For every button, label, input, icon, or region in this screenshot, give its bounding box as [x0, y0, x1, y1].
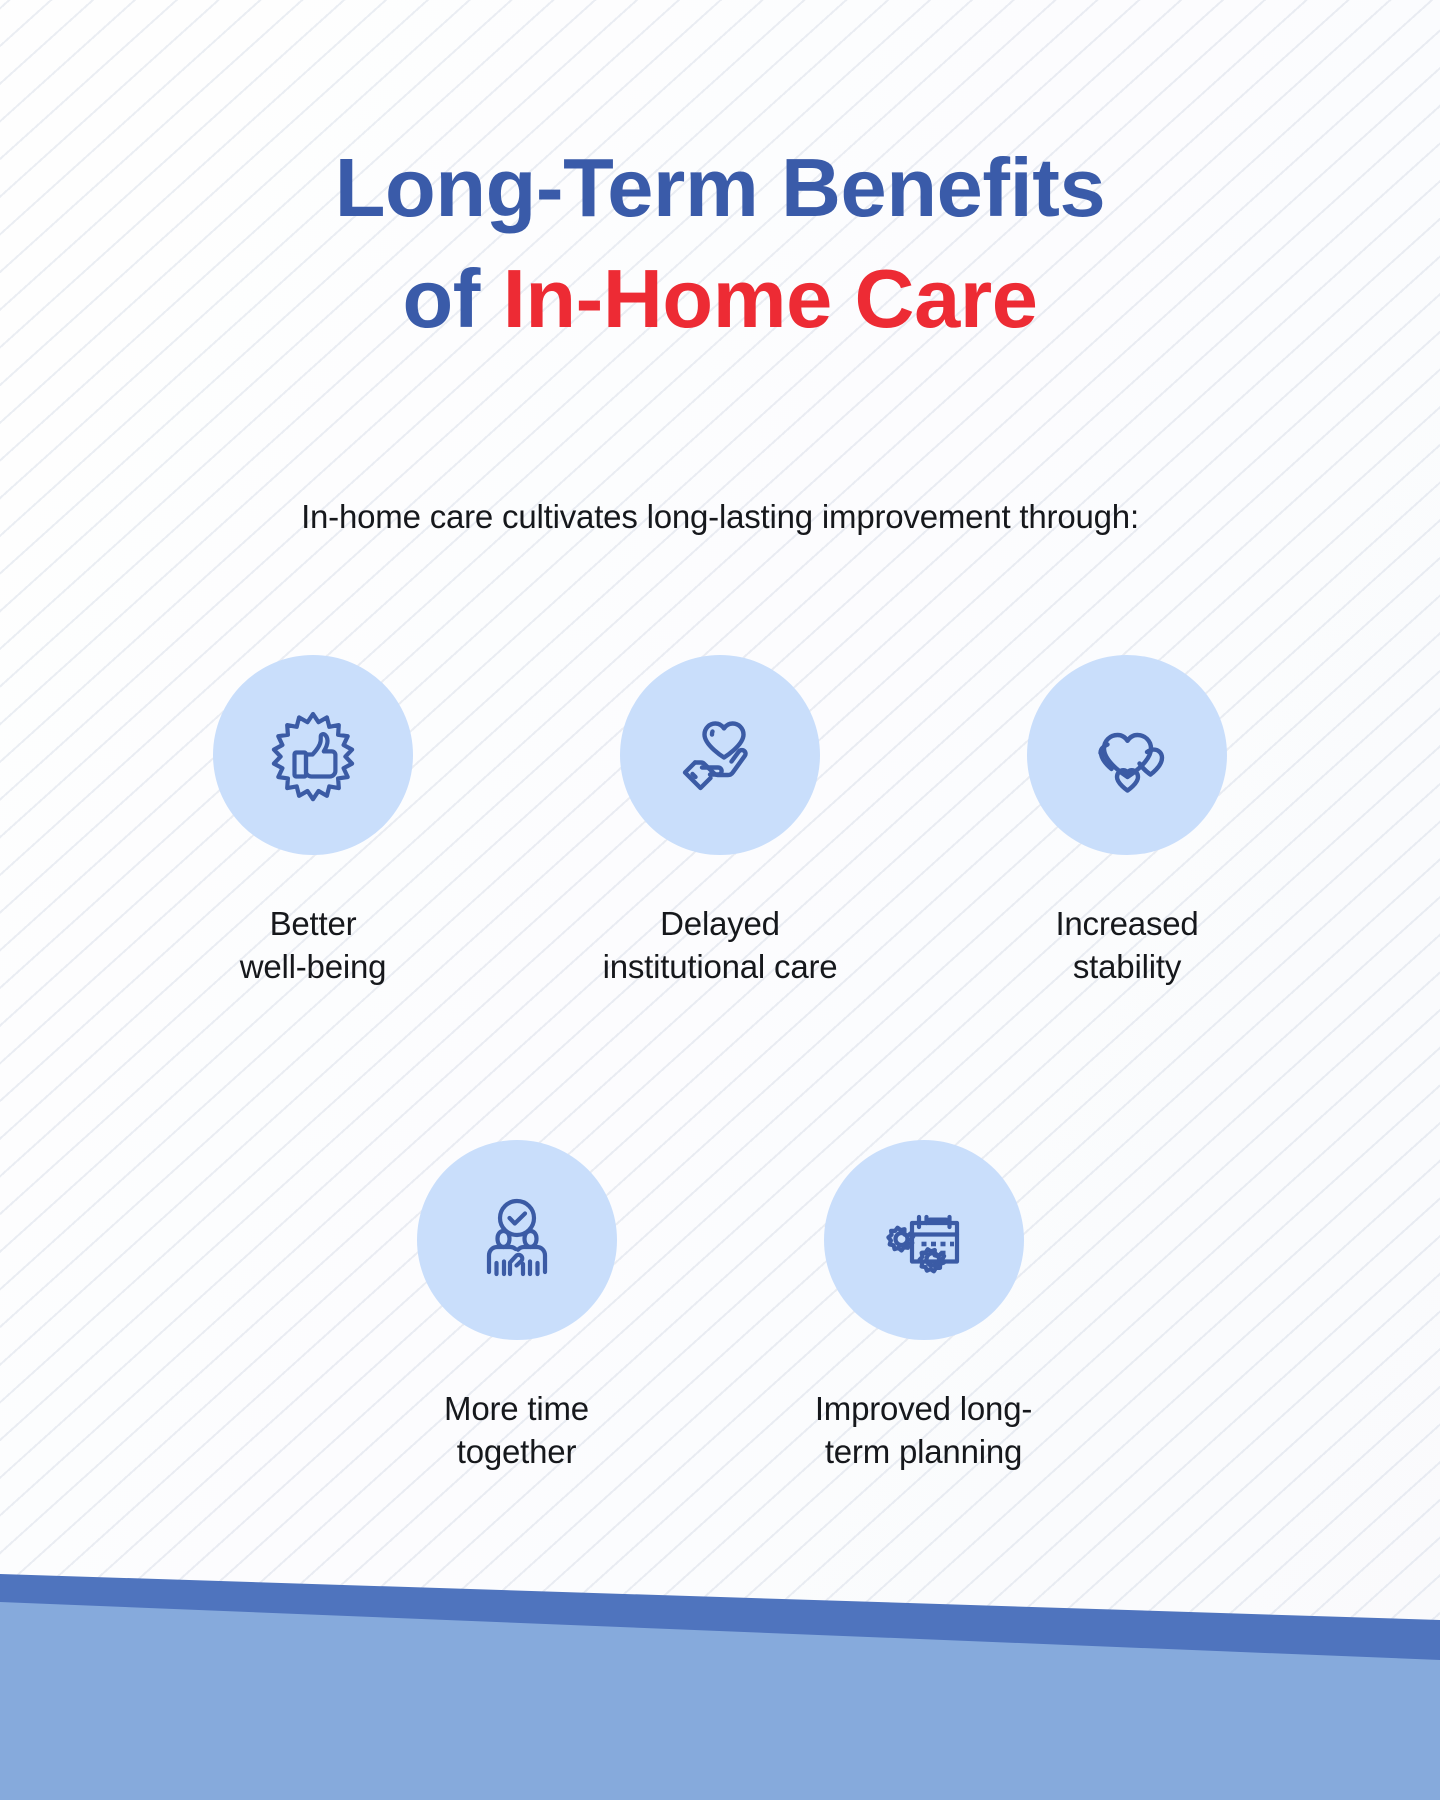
benefit-label-line-2: term planning	[774, 1430, 1074, 1473]
footer-band-shapes	[0, 1570, 1440, 1800]
thumbs-up-badge-icon	[263, 705, 363, 805]
benefit-item-more-time-together: More time together	[417, 1140, 617, 1473]
title-line-2: of In-Home Care	[0, 243, 1440, 354]
benefit-item-improved-long-term-planning: Improved long- term planning	[824, 1140, 1024, 1473]
subtitle: In-home care cultivates long-lasting imp…	[0, 498, 1440, 536]
multiple-hearts-icon	[1077, 705, 1177, 805]
benefit-label-line-1: More time	[367, 1387, 667, 1430]
icon-circle	[824, 1140, 1024, 1340]
benefit-item-delayed-institutional-care: Delayed institutional care	[620, 655, 820, 988]
page-title: Long-Term Benefits of In-Home Care	[0, 132, 1440, 354]
title-line-2-prefix: of	[402, 252, 502, 345]
icon-circle	[213, 655, 413, 855]
icon-circle	[417, 1140, 617, 1340]
icon-circle	[1027, 655, 1227, 855]
benefit-label-line-2: stability	[992, 945, 1262, 988]
benefit-label: Better well-being	[178, 902, 448, 988]
footer-bands	[0, 1570, 1440, 1800]
benefit-label-line-1: Increased	[992, 902, 1262, 945]
benefit-label-line-1: Improved long-	[774, 1387, 1074, 1430]
benefit-label-line-2: well-being	[178, 945, 448, 988]
title-line-2-accent: In-Home Care	[503, 252, 1038, 345]
benefit-label: Increased stability	[992, 902, 1262, 988]
calendar-gears-icon	[874, 1190, 974, 1290]
title-line-1: Long-Term Benefits	[0, 132, 1440, 243]
benefit-item-better-wellbeing: Better well-being	[213, 655, 413, 988]
benefit-label: Delayed institutional care	[585, 902, 855, 988]
benefit-item-increased-stability: Increased stability	[1027, 655, 1227, 988]
benefit-label-line-2: institutional care	[585, 945, 855, 988]
benefit-label: More time together	[367, 1387, 667, 1473]
hand-holding-heart-icon	[670, 705, 770, 805]
infographic-poster: Long-Term Benefits of In-Home Care In-ho…	[0, 0, 1440, 1800]
people-with-check-icon	[467, 1190, 567, 1290]
benefit-label: Improved long- term planning	[774, 1387, 1074, 1473]
benefits-row-2: More time together	[0, 1140, 1440, 1473]
benefit-label-line-2: together	[367, 1430, 667, 1473]
benefit-label-line-1: Better	[178, 902, 448, 945]
icon-circle	[620, 655, 820, 855]
benefit-label-line-1: Delayed	[585, 902, 855, 945]
benefits-row-1: Better well-being Delayed	[0, 655, 1440, 988]
